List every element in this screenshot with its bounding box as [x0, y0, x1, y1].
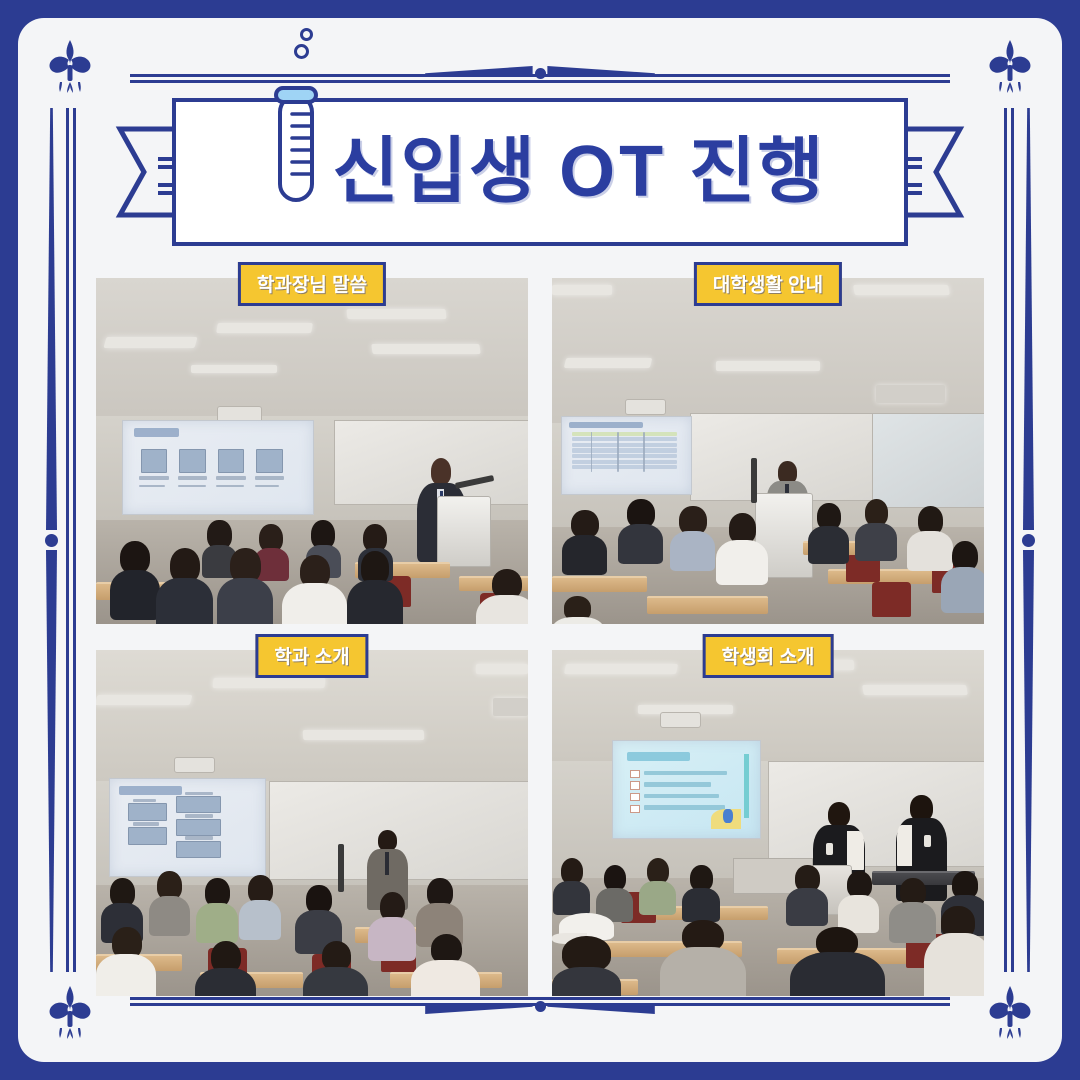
title-box: 신입생 OT 진행: [172, 98, 908, 246]
poster-card: 신입생 OT 진행: [18, 18, 1062, 1062]
bottom-divider-rule: [130, 998, 950, 1018]
divider-line: [130, 1003, 950, 1006]
side-thin-line: [1004, 108, 1007, 972]
title-tail: 진행: [689, 132, 825, 212]
photo-1-caption-badge: 학과장님 말씀: [238, 262, 386, 306]
left-side-rule: [42, 108, 76, 972]
bubble-icon: [294, 44, 309, 59]
side-thin-line: [66, 108, 69, 972]
bubble-icon: [300, 28, 313, 41]
spear-ornament-icon: [1023, 550, 1034, 972]
photo-cell[interactable]: 학생회 소개: [552, 650, 984, 996]
photo-cell[interactable]: 대학생활 안내: [552, 278, 984, 624]
fleur-de-lis-icon: [984, 984, 1036, 1042]
side-thin-line: [73, 108, 76, 972]
photo-2-caption-badge: 대학생활 안내: [694, 262, 842, 306]
photo-3-image[interactable]: [96, 650, 528, 996]
spear-ornament-icon: [46, 550, 57, 972]
side-thin-line: [1011, 108, 1014, 972]
photo-3-caption-badge: 학과 소개: [255, 634, 368, 678]
spear-ornament-icon: [1023, 108, 1034, 530]
title-banner: 신입생 OT 진행: [114, 98, 966, 246]
photo-grid: 학과장님 말씀: [96, 278, 984, 996]
photo-cell[interactable]: 학과장님 말씀: [96, 278, 528, 624]
divider-line: [130, 74, 950, 77]
title-ot: OT: [559, 132, 667, 212]
photo-1-image[interactable]: [96, 278, 528, 624]
photo-4-caption-badge: 학생회 소개: [703, 634, 834, 678]
side-dot-icon: [45, 534, 58, 547]
test-tube-icon: [268, 66, 324, 216]
photo-4-image[interactable]: [552, 650, 984, 996]
top-divider-rule: [130, 62, 950, 82]
photo-2-image[interactable]: [552, 278, 984, 624]
fleur-de-lis-icon: [44, 38, 96, 96]
side-dot-icon: [1022, 534, 1035, 547]
divider-line: [130, 80, 950, 83]
poster-root: 신입생 OT 진행: [0, 0, 1080, 1080]
photo-cell[interactable]: 학과 소개: [96, 650, 528, 996]
divider-line: [130, 997, 950, 1000]
spear-ornament-icon: [46, 108, 57, 530]
page-title: 신입생 OT 진행: [254, 136, 825, 208]
fleur-de-lis-icon: [44, 984, 96, 1042]
title-main: 신입생: [332, 132, 537, 212]
right-side-rule: [1004, 108, 1038, 972]
fleur-de-lis-icon: [984, 38, 1036, 96]
